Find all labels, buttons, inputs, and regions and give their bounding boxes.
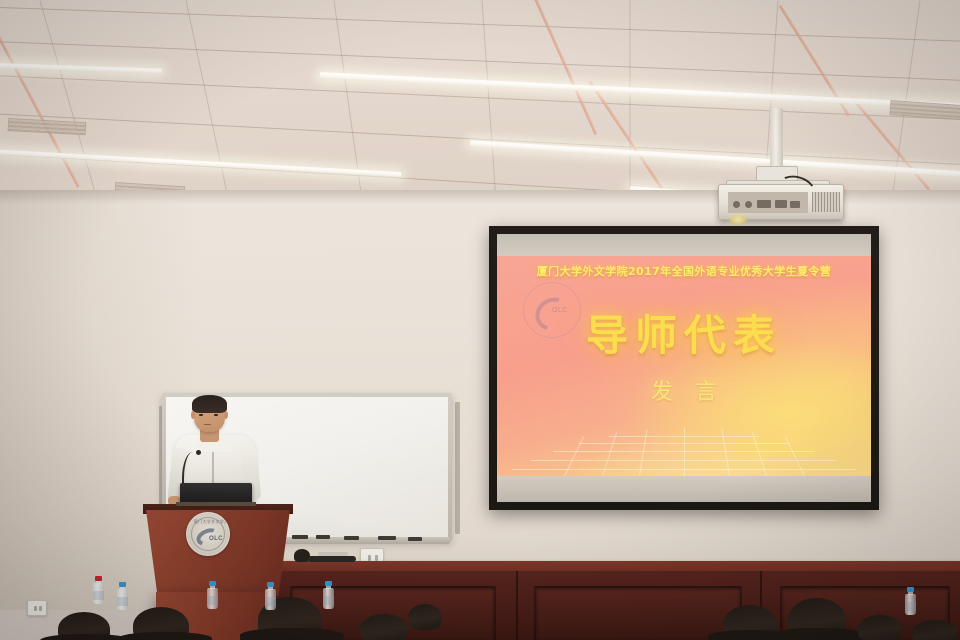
wall-outlet[interactable] — [27, 600, 47, 616]
slide-header-text: 厦门大学外文学院2017年全国外语专业优秀大学生夏令营 — [497, 263, 871, 279]
whiteboard-marker — [344, 536, 359, 540]
audience-head — [408, 604, 442, 630]
speaker-eye — [199, 414, 203, 416]
audience-shoulder — [118, 632, 212, 640]
ceiling-light — [0, 148, 401, 177]
screen-top-band — [497, 234, 871, 256]
audience-shoulder — [770, 628, 868, 640]
speaker-ear — [191, 411, 195, 419]
whiteboard-marker — [408, 537, 422, 541]
whiteboard-marker — [316, 535, 330, 539]
ceiling-light — [470, 140, 960, 178]
laptop[interactable] — [180, 483, 252, 503]
whiteboard-mount — [455, 402, 460, 534]
projector-port — [757, 200, 771, 208]
speaker-eye — [214, 414, 218, 416]
projector-port — [745, 201, 752, 208]
bottle-cap — [907, 587, 914, 592]
bottle-cap — [119, 582, 126, 587]
whiteboard-marker — [378, 536, 396, 540]
audience-head — [858, 615, 902, 640]
audience-shoulder — [240, 628, 344, 640]
sprinkler-pipe — [534, 0, 598, 135]
conference-room-photo: 厦门大学外文学院2017年全国外语专业优秀大学生夏令营 导师代表 发言 — [0, 0, 960, 640]
projector-mount-pole — [770, 108, 783, 172]
slide-content: 厦门大学外文学院2017年全国外语专业优秀大学生夏令营 导师代表 发言 — [497, 256, 871, 476]
bottle-cap — [325, 581, 332, 586]
stage-panel — [534, 586, 742, 640]
sprinkler-pipe — [0, 1, 80, 188]
microphone-head — [196, 450, 201, 455]
audience-head — [360, 614, 408, 640]
bottle-cap — [209, 581, 216, 586]
screen-bottom-band — [497, 476, 871, 502]
emblem-text: OLC — [209, 536, 223, 542]
screen-surface: 厦门大学外文学院2017年全国外语专业优秀大学生夏令营 导师代表 发言 — [497, 234, 871, 502]
stage-equipment-cable — [308, 556, 356, 562]
speaker-hair — [192, 395, 227, 413]
projector-vent-grill — [812, 192, 840, 212]
speaker-ear — [224, 411, 228, 419]
speaker-mouth — [204, 424, 211, 425]
stage-equipment — [318, 552, 348, 556]
speaker-eyebrow — [214, 410, 219, 411]
projector-lens — [730, 216, 746, 224]
bottle-cap — [95, 576, 102, 581]
slide-title-text: 导师代表 — [497, 302, 871, 363]
stage-seam — [516, 571, 518, 640]
laptop-base — [176, 502, 256, 506]
audience-head — [912, 620, 958, 640]
bottle-cap — [267, 582, 274, 587]
podium-emblem: 厦门大学外文学院 OLC — [186, 512, 230, 556]
projection-screen: 厦门大学外文学院2017年全国外语专业优秀大学生夏令营 导师代表 发言 — [489, 226, 879, 510]
whiteboard-marker — [292, 535, 308, 539]
emblem-arc-text: 厦门大学外文学院 — [194, 519, 228, 525]
ceiling-light — [0, 62, 162, 74]
speaker-eyebrow — [199, 410, 204, 411]
projector-port — [733, 201, 740, 208]
slide-subtitle-text: 发言 — [497, 374, 871, 406]
